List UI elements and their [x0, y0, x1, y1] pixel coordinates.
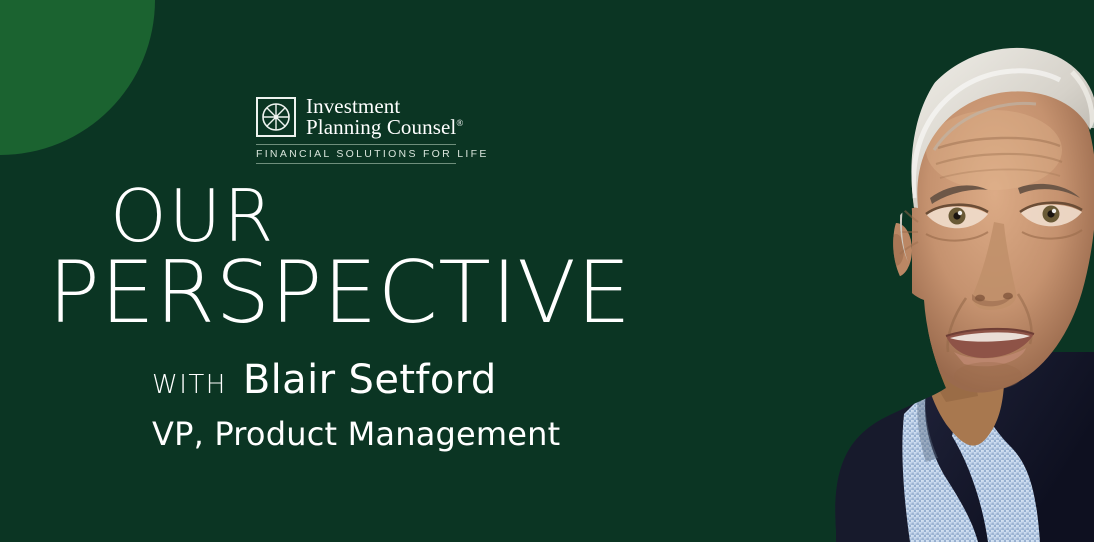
headline-block: OUR PERSPECTIVE WITH Blair Setford VP, P…	[110, 183, 631, 453]
headline-line-2: PERSPECTIVE	[48, 253, 631, 335]
portrait-photo	[574, 0, 1094, 542]
logo-row: Investment Planning Counsel®	[256, 96, 456, 139]
corner-accent-arc	[0, 0, 155, 155]
byline-with-label: WITH	[152, 370, 227, 400]
wheel-spokes-icon	[256, 97, 296, 137]
logo-line-2: Planning Counsel®	[306, 117, 463, 138]
our-perspective-banner: Investment Planning Counsel® FINANCIAL S…	[0, 0, 1094, 542]
logo-line-1: Investment	[306, 96, 463, 117]
registered-mark: ®	[456, 118, 463, 128]
logo-tagline: FINANCIAL SOLUTIONS FOR LIFE	[256, 144, 456, 164]
logo-line-2-text: Planning Counsel	[306, 115, 456, 139]
logo-wordmark: Investment Planning Counsel®	[306, 96, 463, 139]
brand-logo: Investment Planning Counsel® FINANCIAL S…	[256, 96, 456, 164]
byline-role: VP, Product Management	[152, 415, 631, 453]
byline-name: Blair Setford	[243, 357, 497, 403]
headline-line-1: OUR	[110, 183, 631, 249]
byline: WITH Blair Setford	[152, 357, 631, 403]
